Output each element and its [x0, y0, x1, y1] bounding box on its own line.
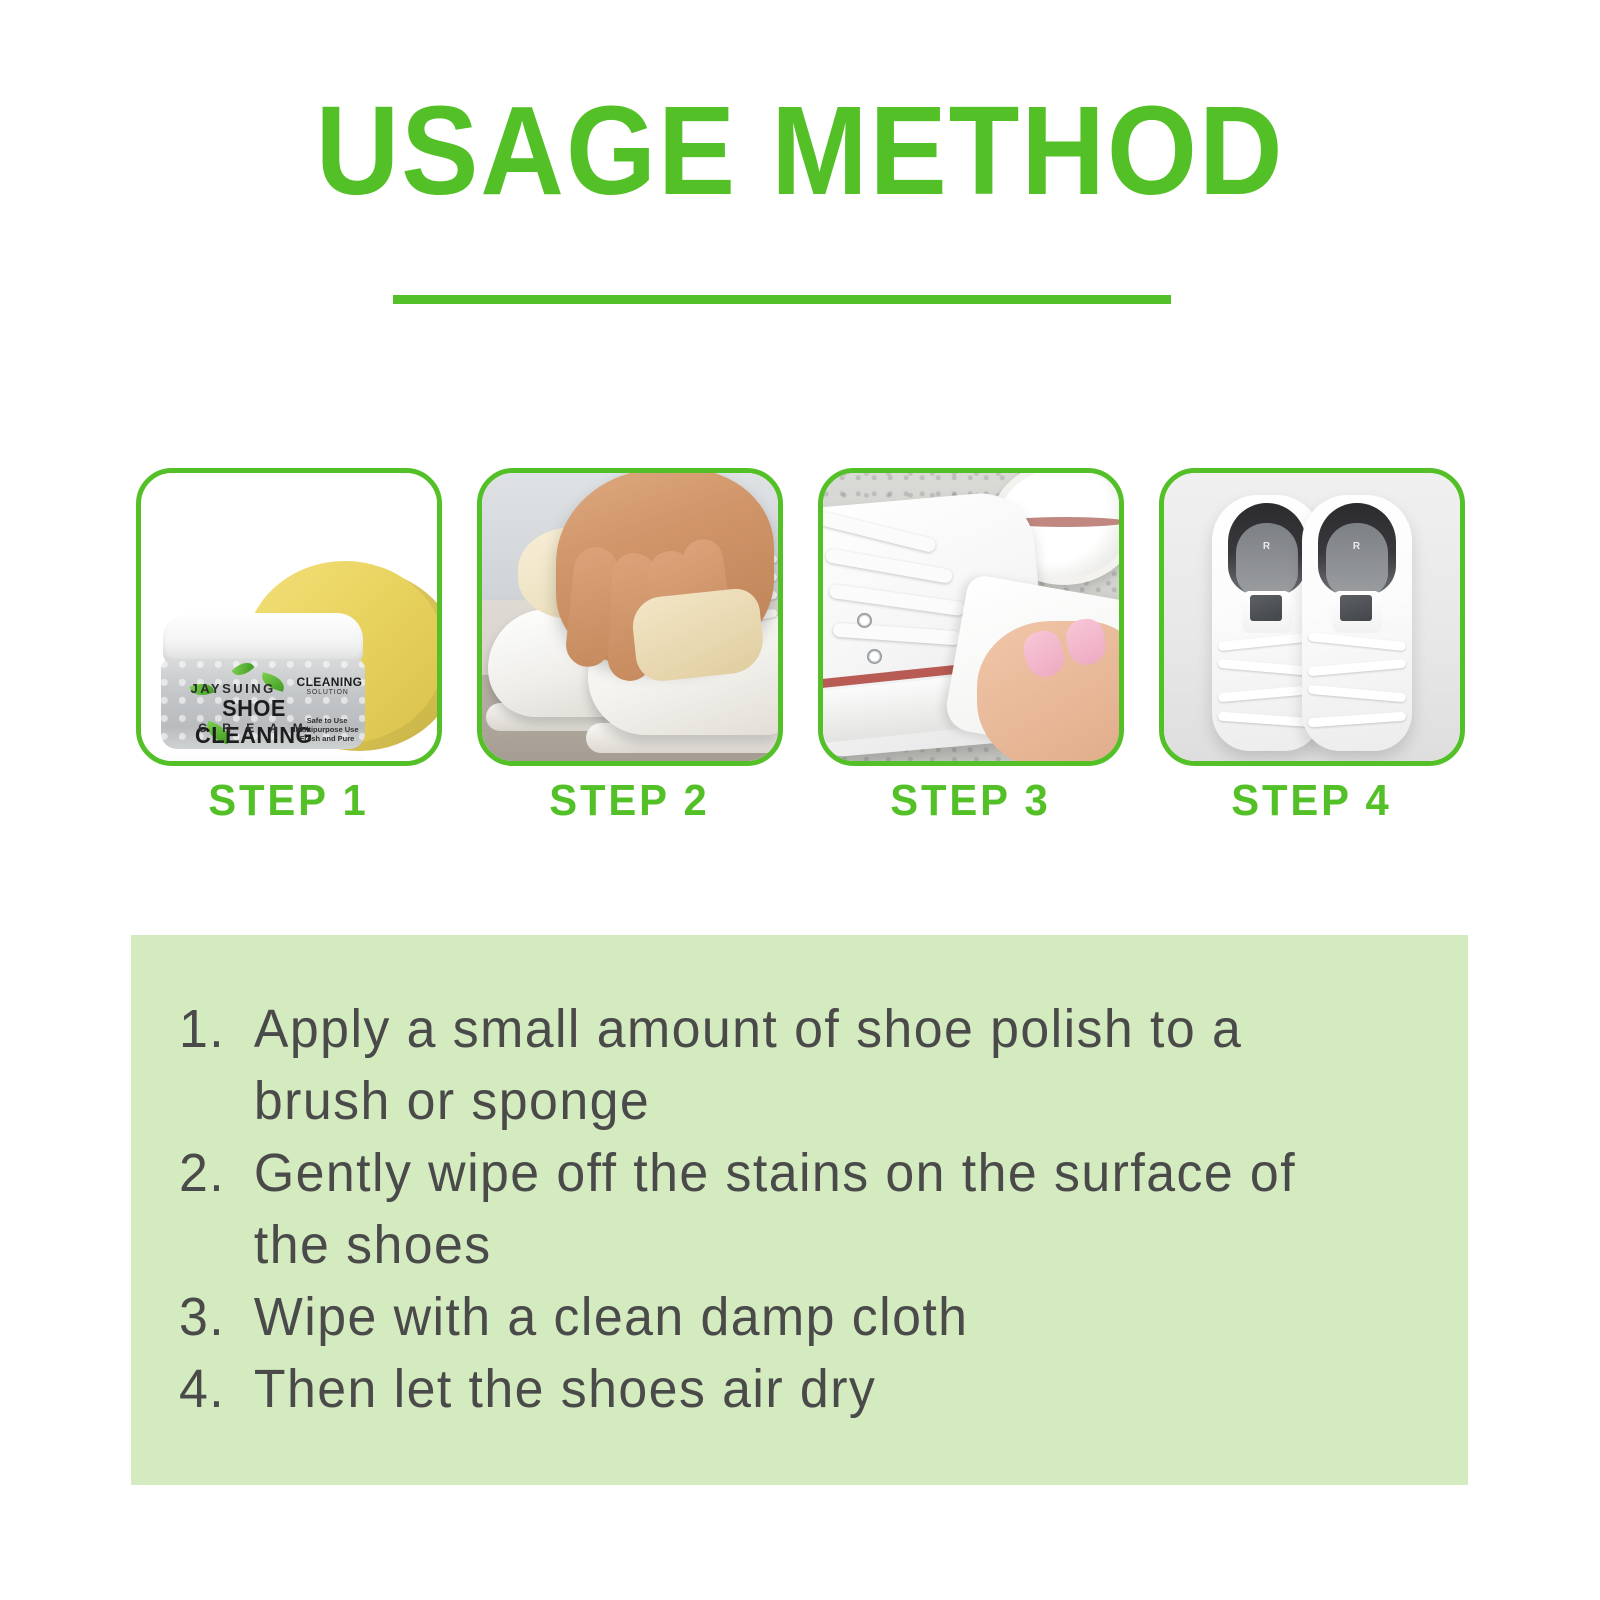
lace-strand — [1217, 659, 1315, 677]
lace-strand — [1217, 712, 1315, 728]
eyelet — [857, 613, 872, 628]
step-4-photo: R R — [1164, 473, 1460, 761]
lace-strand — [1307, 659, 1405, 677]
step-3-label: STEP 3 — [890, 778, 1050, 824]
clean-sneaker-right: R — [1302, 495, 1412, 751]
page-title: USAGE METHOD — [64, 88, 1536, 214]
instruction-text: Gently wipe off the stains on the surfac… — [254, 1137, 1357, 1281]
instructions-list: 1. Apply a small amount of shoe polish t… — [179, 993, 1406, 1425]
insole — [1236, 523, 1298, 597]
product-claim: Fresh and Pure — [296, 734, 359, 743]
product-brand: JAYSUING — [191, 681, 276, 696]
step-2-label: STEP 2 — [549, 778, 709, 824]
product-badge-subtitle: SOLUTION — [297, 689, 359, 696]
step-2-image-card — [477, 468, 783, 766]
lace-strand — [1307, 632, 1405, 651]
step-3-photo — [823, 473, 1119, 761]
instruction-item: 1. Apply a small amount of shoe polish t… — [179, 993, 1357, 1137]
lace-strand — [1217, 685, 1315, 703]
title-divider — [393, 295, 1171, 304]
steps-row: JAYSUING SHOE CLEANING C R E A M CLEANIN… — [0, 468, 1600, 824]
step-card-1: JAYSUING SHOE CLEANING C R E A M CLEANIN… — [136, 468, 442, 824]
product-claims: Safe to Use Multipurpose Use Fresh and P… — [296, 716, 359, 743]
tongue-tag — [1250, 595, 1282, 621]
product-claim: Multipurpose Use — [296, 725, 359, 734]
instruction-text: Apply a small amount of shoe polish to a… — [254, 993, 1357, 1137]
step-3-image-card — [818, 468, 1124, 766]
lace-strand — [1307, 712, 1405, 728]
product-badge: CLEANING SOLUTION — [297, 675, 359, 696]
instruction-number: 3. — [179, 1281, 254, 1353]
step-1-label: STEP 1 — [208, 778, 368, 824]
step-4-label: STEP 4 — [1231, 778, 1391, 824]
instruction-number: 2. — [179, 1137, 254, 1209]
step-4-image-card: R R — [1159, 468, 1465, 766]
step-1-image-card: JAYSUING SHOE CLEANING C R E A M CLEANIN… — [136, 468, 442, 766]
step-card-4: R R — [1159, 468, 1465, 824]
lace-strand — [1217, 632, 1315, 651]
instructions-panel: 1. Apply a small amount of shoe polish t… — [131, 935, 1468, 1485]
instruction-item: 4. Then let the shoes air dry — [179, 1353, 1357, 1425]
instruction-text: Then let the shoes air dry — [254, 1353, 1357, 1425]
leaf-icon — [231, 659, 254, 680]
instruction-text: Wipe with a clean damp cloth — [254, 1281, 1357, 1353]
eyelet — [867, 649, 882, 664]
product-badge-title: CLEANING — [297, 675, 359, 689]
instruction-item: 2. Gently wipe off the stains on the sur… — [179, 1137, 1357, 1281]
jar-label: JAYSUING SHOE CLEANING C R E A M CLEANIN… — [161, 659, 365, 749]
instruction-number: 1. — [179, 993, 254, 1065]
cream-jar: JAYSUING SHOE CLEANING C R E A M CLEANIN… — [161, 613, 365, 749]
instruction-number: 4. — [179, 1353, 254, 1425]
step-card-3: STEP 3 — [818, 468, 1124, 824]
jar-reflection — [161, 749, 365, 761]
cleaning-cloth — [629, 587, 765, 684]
brand-logo-icon: R — [1252, 541, 1282, 559]
step-2-photo — [482, 473, 778, 761]
tongue-tag — [1340, 595, 1372, 621]
brand-logo-icon: R — [1342, 541, 1372, 559]
insole — [1326, 523, 1388, 597]
jar-lid — [163, 613, 363, 665]
step-1-photo: JAYSUING SHOE CLEANING C R E A M CLEANIN… — [141, 473, 437, 761]
instruction-item: 3. Wipe with a clean damp cloth — [179, 1281, 1357, 1353]
lace-strand — [1307, 685, 1405, 703]
product-claim: Safe to Use — [296, 716, 359, 725]
step-card-2: STEP 2 — [477, 468, 783, 824]
